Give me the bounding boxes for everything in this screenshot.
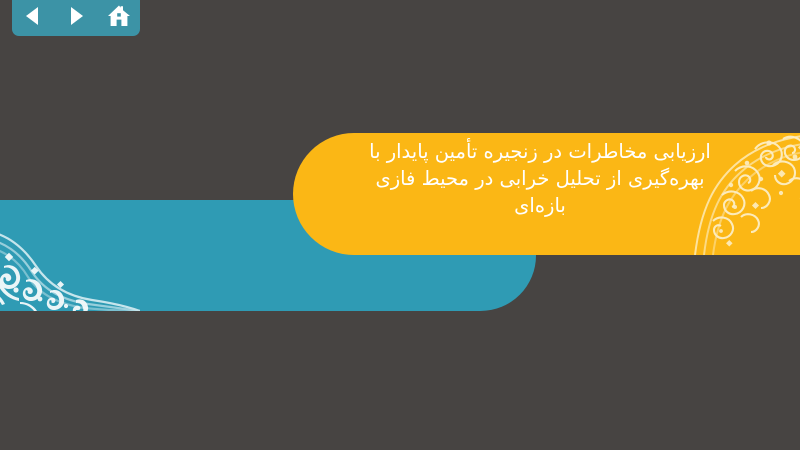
triangle-left-icon <box>24 6 42 26</box>
home-icon <box>107 5 131 27</box>
teal-arabesque-ornament-icon <box>0 200 140 311</box>
home-button[interactable] <box>104 3 134 29</box>
next-slide-button[interactable] <box>61 3 91 29</box>
previous-slide-button[interactable] <box>18 3 48 29</box>
presentation-slide: ارزیابی مخاطرات در زنجیره تأمین پایدار ب… <box>0 0 800 450</box>
slide-navigation-bar <box>12 0 140 36</box>
slide-title: ارزیابی مخاطرات در زنجیره تأمین پایدار ب… <box>300 138 780 250</box>
title-line-3: بازه‌ای <box>514 192 566 219</box>
title-line-1: ارزیابی مخاطرات در زنجیره تأمین پایدار ب… <box>369 138 711 165</box>
title-line-2: بهره‌گیری از تحلیل خرابی در محیط فازی <box>375 165 704 192</box>
triangle-right-icon <box>67 6 85 26</box>
